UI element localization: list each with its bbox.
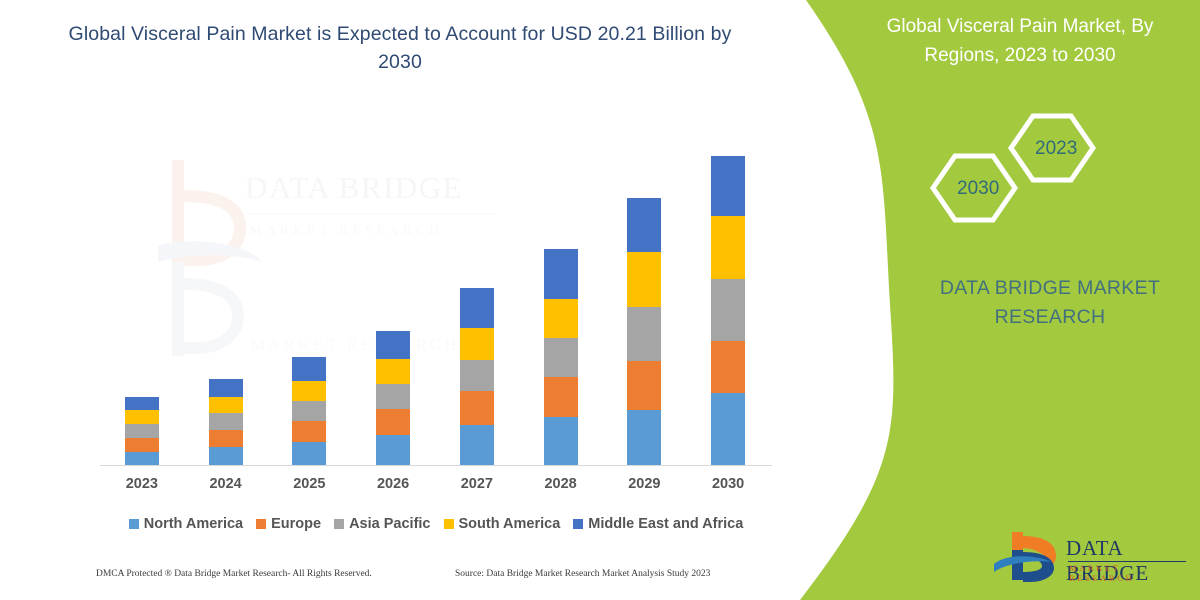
chart-title: Global Visceral Pain Market is Expected … [60,20,740,76]
bar-segment[interactable] [292,357,326,381]
legend-item[interactable]: North America [129,516,243,532]
hexagon-label-2023: 2023 [1035,138,1077,160]
hexagon-outline-icon [925,108,1110,233]
bar-segment[interactable] [544,417,578,466]
bar-segment[interactable] [376,384,410,409]
bar-segment[interactable] [292,381,326,401]
legend-label: Europe [271,516,321,532]
bar-segment[interactable] [627,307,661,361]
chart-legend: North AmericaEuropeAsia PacificSouth Ame… [100,513,772,535]
hexagon-label-2030: 2030 [957,178,999,200]
x-axis-label-2025: 2025 [279,476,339,492]
legend-label: North America [144,516,243,532]
dbmr-logo-sub: MARKET RESEARCH [1069,563,1190,583]
bar-segment[interactable] [460,328,494,360]
footer-copyright: DMCA Protected ® Data Bridge Market Rese… [96,569,372,579]
bar-segment[interactable] [544,299,578,338]
bar-segment[interactable] [544,338,578,377]
legend-item[interactable]: Asia Pacific [334,516,430,532]
bar-segment[interactable] [627,198,661,252]
bar-group-2024[interactable] [209,379,243,466]
x-axis-label-2030: 2030 [698,476,758,492]
right-panel-title: Global Visceral Pain Market, By Regions,… [860,12,1180,70]
screenshot-root: Global Visceral Pain Market is Expected … [0,0,1200,600]
bar-segment[interactable] [711,279,745,341]
legend-swatch-icon [129,519,139,529]
x-axis-line [100,465,772,466]
bar-group-2027[interactable] [460,288,494,466]
bar-segment[interactable] [627,361,661,410]
bar-group-2023[interactable] [125,397,159,466]
bar-segment[interactable] [292,421,326,442]
dbmr-logo: DATA BRIDGE MARKET RESEARCH [990,528,1190,590]
bar-segment[interactable] [125,397,159,410]
bar-segment[interactable] [460,391,494,425]
footer-source: Source: Data Bridge Market Research Mark… [455,569,710,579]
legend-label: South America [459,516,561,532]
bar-segment[interactable] [125,410,159,424]
legend-item[interactable]: Middle East and Africa [573,516,743,532]
legend-swatch-icon [334,519,344,529]
bar-segment[interactable] [460,425,494,466]
x-axis-label-2027: 2027 [447,476,507,492]
x-axis-label-2023: 2023 [112,476,172,492]
bar-segment[interactable] [627,252,661,307]
bar-segment[interactable] [376,409,410,435]
bar-segment[interactable] [376,331,410,359]
bar-segment[interactable] [209,397,243,413]
bar-segment[interactable] [125,452,159,466]
bar-segment[interactable] [292,401,326,421]
bar-segment[interactable] [125,438,159,452]
right-panel-brand: DATA BRIDGE MARKET RESEARCH [900,274,1200,332]
bar-segment[interactable] [711,156,745,216]
bar-segment[interactable] [209,430,243,447]
dbmr-mark-icon [990,528,1062,586]
bar-segment[interactable] [209,379,243,397]
x-axis-labels: 20232024202520262027202820292030 [100,476,772,498]
bar-segment[interactable] [627,410,661,466]
bar-segment[interactable] [544,377,578,417]
bar-segment[interactable] [209,447,243,466]
legend-item[interactable]: Europe [256,516,321,532]
x-axis-label-2026: 2026 [363,476,423,492]
bar-group-2029[interactable] [627,198,661,466]
bar-segment[interactable] [376,435,410,466]
bar-segment[interactable] [711,341,745,393]
bar-segment[interactable] [376,359,410,384]
bar-segment[interactable] [460,288,494,328]
bar-chart-plot [100,140,770,466]
bar-segment[interactable] [292,442,326,466]
bar-segment[interactable] [544,249,578,299]
bar-segment[interactable] [209,413,243,430]
legend-swatch-icon [444,519,454,529]
bar-group-2026[interactable] [376,331,410,466]
bar-segment[interactable] [711,393,745,466]
bar-segment[interactable] [460,360,494,391]
bar-group-2028[interactable] [544,249,578,466]
bar-group-2030[interactable] [711,156,745,466]
hexagon-group: 2023 2030 [925,108,1110,233]
legend-swatch-icon [256,519,266,529]
bar-segment[interactable] [125,424,159,438]
legend-label: Middle East and Africa [588,516,743,532]
bar-segment[interactable] [711,216,745,279]
legend-item[interactable]: South America [444,516,561,532]
x-axis-label-2024: 2024 [196,476,256,492]
dbmr-logo-divider [1068,561,1186,562]
bar-group-2025[interactable] [292,357,326,466]
legend-label: Asia Pacific [349,516,430,532]
x-axis-label-2029: 2029 [614,476,674,492]
x-axis-label-2028: 2028 [531,476,591,492]
chart-panel: Global Visceral Pain Market is Expected … [0,0,800,600]
legend-swatch-icon [573,519,583,529]
